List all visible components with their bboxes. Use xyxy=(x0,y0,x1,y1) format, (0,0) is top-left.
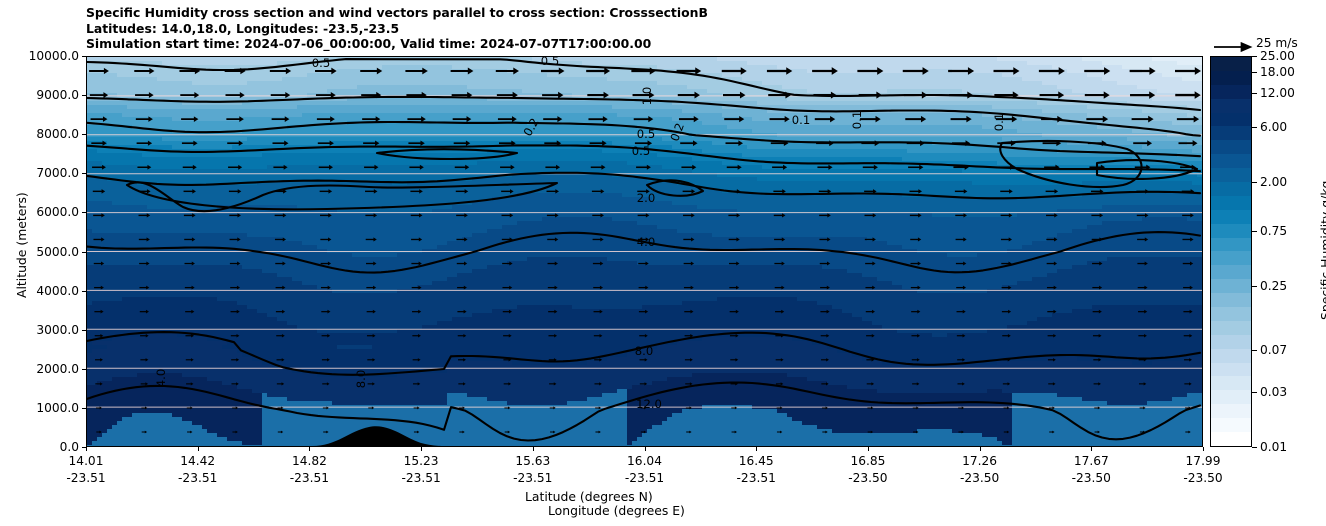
colorbar-segment xyxy=(1211,71,1251,85)
svg-text:0.1: 0.1 xyxy=(792,113,810,127)
x-tick-label-group: 14.01-23.51 xyxy=(66,453,105,487)
x-tick-label-latitude: 17.99 xyxy=(1183,453,1222,470)
colorbar-tick-label: 25.00 xyxy=(1260,49,1295,63)
colorbar-segment xyxy=(1211,404,1251,418)
svg-text:12.0: 12.0 xyxy=(636,397,662,411)
y-tick-label: 10000.0 xyxy=(29,49,79,63)
y-tick-mark xyxy=(82,291,86,292)
colorbar-segment xyxy=(1211,238,1251,252)
y-tick-label: 8000.0 xyxy=(36,127,79,141)
y-tick-mark xyxy=(82,252,86,253)
y-tick-mark xyxy=(82,408,86,409)
colorbar-tick-label: 0.25 xyxy=(1260,279,1287,293)
colorbar-tick-mark xyxy=(1252,286,1257,287)
colorbar-tick-label: 6.00 xyxy=(1260,120,1287,134)
x-tick-label-longitude: -23.51 xyxy=(66,470,105,487)
y-tick-label: 5000.0 xyxy=(36,245,79,259)
colorbar-segment xyxy=(1211,265,1251,279)
colorbar-tick-label: 0.03 xyxy=(1260,385,1287,399)
contour-label: 4.0 xyxy=(154,365,169,391)
y-tick-label: 4000.0 xyxy=(36,284,79,298)
colorbar-segment xyxy=(1211,432,1251,446)
contour-label: 12.0 xyxy=(633,397,666,412)
colorbar-tick-label: 12.00 xyxy=(1260,86,1295,100)
y-tick-mark xyxy=(82,369,86,370)
cross-section-plot: 0.50.51.00.20.50.20.50.10.10.12.04.08.04… xyxy=(86,56,1203,447)
contour-field: 0.50.51.00.20.50.20.50.10.10.12.04.08.04… xyxy=(87,57,1202,446)
x-axis-label-longitude: Longitude (degrees E) xyxy=(548,503,685,518)
x-tick-label-latitude: 14.01 xyxy=(66,453,105,470)
colorbar-tick-mark xyxy=(1252,93,1257,94)
x-tick-label-latitude: 17.67 xyxy=(1072,453,1111,470)
colorbar-segment xyxy=(1211,279,1251,293)
x-tick-label-latitude: 15.23 xyxy=(401,453,440,470)
x-tick-label-group: 17.26-23.50 xyxy=(960,453,999,487)
x-tick-label-latitude: 17.26 xyxy=(960,453,999,470)
x-tick-label-group: 14.82-23.51 xyxy=(290,453,329,487)
x-tick-label-group: 16.85-23.50 xyxy=(848,453,887,487)
colorbar-segment xyxy=(1211,363,1251,377)
colorbar-tick-label: 0.07 xyxy=(1260,343,1287,357)
x-tick-label-longitude: -23.51 xyxy=(737,470,776,487)
x-tick-mark xyxy=(198,447,199,451)
x-tick-label-group: 15.63-23.51 xyxy=(513,453,552,487)
y-tick-label: 0.0 xyxy=(60,440,79,454)
colorbar-segment xyxy=(1211,182,1251,196)
x-tick-label-group: 15.23-23.51 xyxy=(401,453,440,487)
colorbar-tick-mark xyxy=(1252,350,1257,351)
quiver-key-label: 25 m/s xyxy=(1256,36,1298,50)
contour-label: 0.1 xyxy=(788,113,814,128)
colorbar-segment xyxy=(1211,321,1251,335)
colorbar-tick-label: 18.00 xyxy=(1260,65,1295,79)
contour-label: 0.5 xyxy=(633,127,659,142)
colorbar-tick-label: 0.75 xyxy=(1260,224,1287,238)
contour-label: 8.0 xyxy=(631,344,657,359)
colorbar-segment xyxy=(1211,251,1251,265)
svg-text:8.0: 8.0 xyxy=(635,344,653,358)
x-tick-mark xyxy=(756,447,757,451)
y-tick-label: 7000.0 xyxy=(36,166,79,180)
colorbar-segment xyxy=(1211,57,1251,71)
x-tick-mark xyxy=(1203,447,1204,451)
y-tick-label: 9000.0 xyxy=(36,88,79,102)
colorbar-segment xyxy=(1211,307,1251,321)
y-tick-mark xyxy=(82,56,86,57)
y-tick-label: 2000.0 xyxy=(36,362,79,376)
figure-canvas: Specific Humidity cross section and wind… xyxy=(0,0,1326,526)
svg-text:2.0: 2.0 xyxy=(637,191,655,205)
x-tick-label-group: 17.99-23.50 xyxy=(1183,453,1222,487)
contour-label: 8.0 xyxy=(354,366,369,392)
colorbar-tick-mark xyxy=(1252,447,1257,448)
x-tick-label-latitude: 16.04 xyxy=(625,453,664,470)
contour-label: 0.1 xyxy=(992,109,1007,135)
colorbar-tick-mark xyxy=(1252,182,1257,183)
svg-text:8.0: 8.0 xyxy=(354,370,368,388)
colorbar-segment xyxy=(1211,140,1251,154)
colorbar-segment xyxy=(1211,335,1251,349)
colorbar-segment xyxy=(1211,224,1251,238)
x-tick-mark xyxy=(533,447,534,451)
x-tick-mark xyxy=(309,447,310,451)
title-line-3: Simulation start time: 2024-07-06_00:00:… xyxy=(86,36,1206,52)
contour-label: 0.5 xyxy=(628,144,654,159)
y-tick-mark xyxy=(82,134,86,135)
x-axis-label-latitude: Latitude (degrees N) xyxy=(525,489,653,504)
x-tick-mark xyxy=(421,447,422,451)
colorbar-segment xyxy=(1211,85,1251,99)
colorbar-tick-mark xyxy=(1252,231,1257,232)
y-tick-mark xyxy=(82,173,86,174)
colorbar-tick-mark xyxy=(1252,72,1257,73)
x-tick-label-latitude: 15.63 xyxy=(513,453,552,470)
svg-text:0.5: 0.5 xyxy=(541,57,559,68)
y-tick-mark xyxy=(82,330,86,331)
x-tick-label-longitude: -23.50 xyxy=(848,470,887,487)
x-tick-mark xyxy=(868,447,869,451)
colorbar-tick-label: 2.00 xyxy=(1260,175,1287,189)
x-tick-label-longitude: -23.51 xyxy=(625,470,664,487)
colorbar-tick-mark xyxy=(1252,392,1257,393)
colorbar-segment xyxy=(1211,210,1251,224)
figure-title: Specific Humidity cross section and wind… xyxy=(86,5,1206,52)
colorbar-title: Specific Humidity g/kg xyxy=(1318,180,1326,319)
colorbar-segment xyxy=(1211,113,1251,127)
colorbar-tick-mark xyxy=(1252,56,1257,57)
x-tick-label-longitude: -23.51 xyxy=(290,470,329,487)
colorbar-segment xyxy=(1211,349,1251,363)
colorbar-tick-mark xyxy=(1252,127,1257,128)
x-tick-label-longitude: -23.50 xyxy=(1183,470,1222,487)
y-tick-label: 6000.0 xyxy=(36,205,79,219)
colorbar-segment xyxy=(1211,390,1251,404)
colorbar-segment xyxy=(1211,293,1251,307)
colorbar-segment xyxy=(1211,154,1251,168)
colorbar-segment xyxy=(1211,168,1251,182)
x-tick-label-group: 16.04-23.51 xyxy=(625,453,664,487)
title-line-1: Specific Humidity cross section and wind… xyxy=(86,5,1206,21)
y-tick-label: 1000.0 xyxy=(36,401,79,415)
title-line-2: Latitudes: 14.0,18.0, Longitudes: -23.5,… xyxy=(86,21,1206,37)
svg-text:0.5: 0.5 xyxy=(632,144,650,158)
svg-text:4.0: 4.0 xyxy=(154,369,168,387)
svg-text:0.5: 0.5 xyxy=(637,127,655,141)
x-tick-label-longitude: -23.50 xyxy=(960,470,999,487)
y-tick-label: 3000.0 xyxy=(36,323,79,337)
x-tick-label-latitude: 16.45 xyxy=(737,453,776,470)
x-tick-label-longitude: -23.51 xyxy=(513,470,552,487)
x-tick-label-latitude: 14.82 xyxy=(290,453,329,470)
contour-label: 4.0 xyxy=(633,235,659,250)
x-tick-label-longitude: -23.50 xyxy=(1072,470,1111,487)
x-tick-label-longitude: -23.51 xyxy=(178,470,217,487)
colorbar-segment xyxy=(1211,418,1251,432)
x-tick-label-latitude: 16.85 xyxy=(848,453,887,470)
x-tick-mark xyxy=(980,447,981,451)
svg-text:4.0: 4.0 xyxy=(637,235,655,249)
x-tick-label-group: 16.45-23.51 xyxy=(737,453,776,487)
colorbar-segment xyxy=(1211,376,1251,390)
contour-label: 0.5 xyxy=(537,57,563,69)
x-tick-mark xyxy=(1091,447,1092,451)
y-axis-label: Altitude (meters) xyxy=(14,192,29,298)
x-tick-label-group: 14.42-23.51 xyxy=(178,453,217,487)
contour-label: 0.5 xyxy=(308,57,334,71)
y-tick-mark xyxy=(82,95,86,96)
terrain-silhouette xyxy=(312,426,447,446)
x-tick-label-longitude: -23.51 xyxy=(401,470,440,487)
colorbar[interactable] xyxy=(1210,56,1252,447)
x-tick-label-group: 17.67-23.50 xyxy=(1072,453,1111,487)
colorbar-segment xyxy=(1211,196,1251,210)
x-tick-mark xyxy=(86,447,87,451)
x-tick-label-latitude: 14.42 xyxy=(178,453,217,470)
svg-text:0.5: 0.5 xyxy=(312,57,330,70)
colorbar-segment xyxy=(1211,99,1251,113)
contour-label: 2.0 xyxy=(633,191,659,206)
svg-text:0.1: 0.1 xyxy=(992,113,1006,131)
x-tick-mark xyxy=(645,447,646,451)
colorbar-tick-label: 0.01 xyxy=(1260,440,1287,454)
colorbar-segment xyxy=(1211,126,1251,140)
y-tick-mark xyxy=(82,212,86,213)
